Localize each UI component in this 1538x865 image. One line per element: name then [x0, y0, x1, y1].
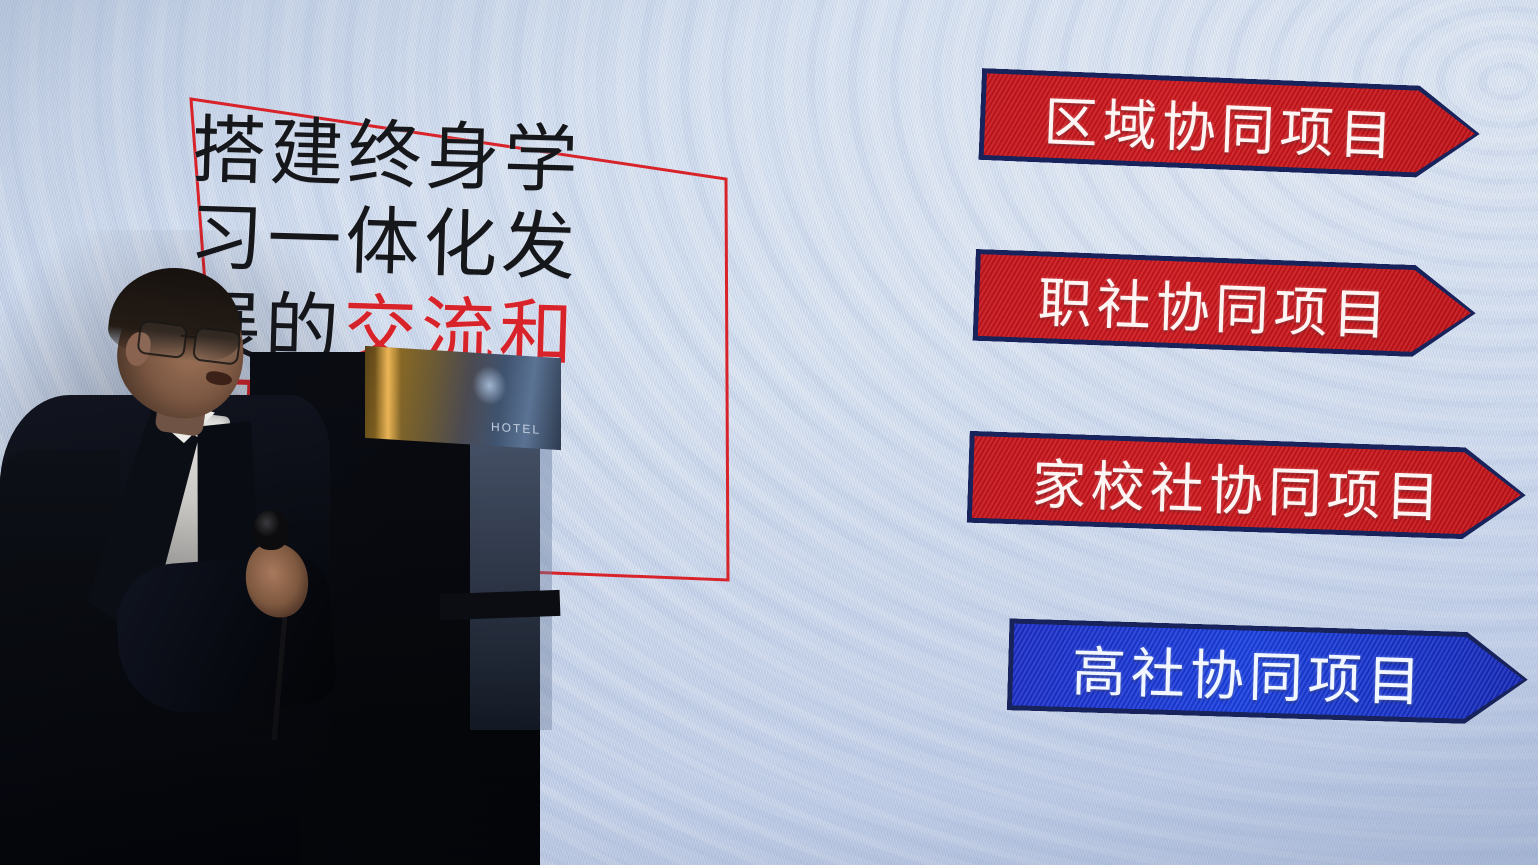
presentation-photo: 搭建终身学 习一体化发 展的交流和 服务平台 区域协同项目 职社协同项目 家校社… [0, 0, 1538, 865]
photo-vignette [0, 0, 1538, 865]
